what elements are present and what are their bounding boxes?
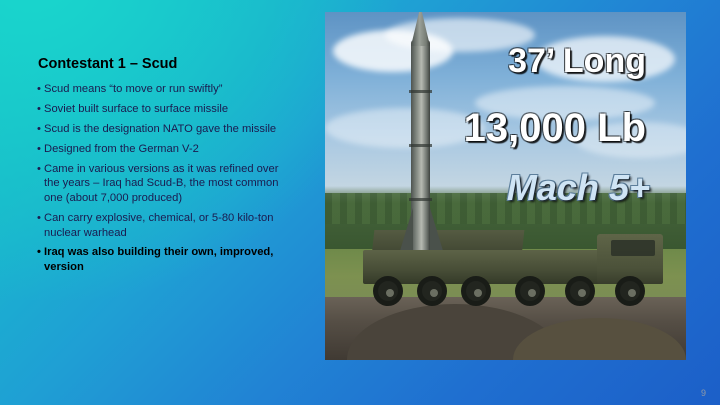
list-item: Iraq was also building their own, improv… — [38, 245, 290, 275]
list-item: Can carry explosive, chemical, or 5-80 k… — [38, 211, 290, 241]
truck-wheel — [515, 276, 545, 306]
cloud-shape — [325, 108, 485, 148]
missile-body — [411, 40, 430, 258]
overlay-weight-label: 13,000 Lb — [464, 108, 646, 148]
slide-text-column: Contestant 1 – Scud Scud means “to move … — [38, 56, 290, 280]
page-title: Contestant 1 – Scud — [38, 56, 290, 73]
missile-band — [409, 198, 432, 201]
list-item: Designed from the German V-2 — [38, 142, 290, 157]
truck-wheel — [565, 276, 595, 306]
missile-band — [409, 144, 432, 147]
overlay-speed-label: Mach 5+ — [507, 170, 650, 206]
scud-missile-launcher-photo: 37’ Long 13,000 Lb Mach 5+ — [325, 12, 686, 360]
truck-wheel — [615, 276, 645, 306]
presentation-slide: Contestant 1 – Scud Scud means “to move … — [0, 0, 720, 405]
list-item: Came in various versions as it was refin… — [38, 162, 290, 206]
truck-wheel — [373, 276, 403, 306]
slide-number: 9 — [701, 388, 706, 398]
truck-wheel — [417, 276, 447, 306]
truck-wheel — [461, 276, 491, 306]
list-item: Scud is the designation NATO gave the mi… — [38, 122, 290, 137]
list-item: Soviet built surface to surface missile — [38, 102, 290, 117]
truck-windshield — [611, 240, 655, 256]
list-item: Scud means “to move or run swiftly” — [38, 82, 290, 97]
missile-band — [409, 90, 432, 93]
bullet-list: Scud means “to move or run swiftly” Sovi… — [38, 82, 290, 275]
overlay-length-label: 37’ Long — [508, 44, 646, 78]
